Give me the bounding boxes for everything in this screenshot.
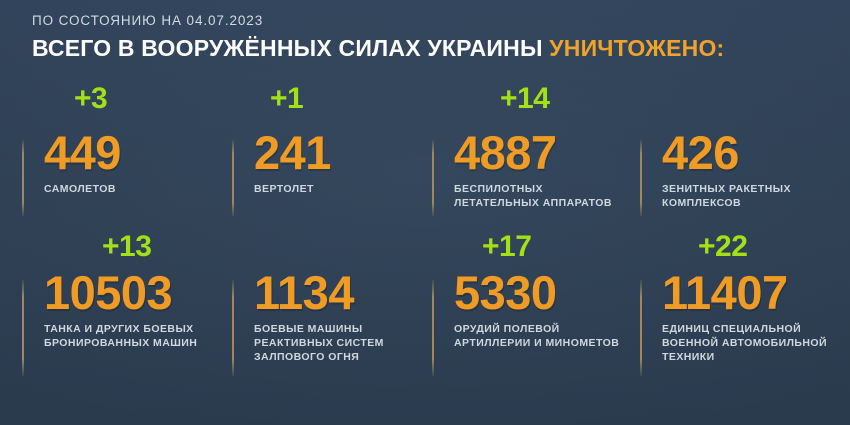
stat-cell-military-vehicles: +22 11407 ЕДИНИЦ СПЕЦИАЛЬНОЙ ВОЕННОЙ АВТ… [640, 232, 850, 382]
stat-cell-sam-systems: 426 ЗЕНИТНЫХ РАКЕТНЫХ КОМПЛЕКСОВ [640, 84, 850, 234]
stat-body: 11407 ЕДИНИЦ СПЕЦИАЛЬНОЙ ВОЕННОЙ АВТОМОБ… [662, 270, 850, 365]
stat-label: САМОЛЕТОВ [44, 183, 234, 197]
stat-body: 10503 ТАНКА И ДРУГИХ БОЕВЫХ БРОНИРОВАННЫ… [44, 270, 234, 351]
page-title-main: ВСЕГО В ВООРУЖЁННЫХ СИЛАХ УКРАИНЫ [32, 35, 549, 61]
stat-cell-mlrs: 1134 БОЕВЫЕ МАШИНЫ РЕАКТИВНЫХ СИСТЕМ ЗАЛ… [232, 232, 442, 382]
cell-divider [22, 280, 24, 376]
infographic-sheet: ПО СОСТОЯНИЮ НА 04.07.2023 ВСЕГО В ВООРУ… [0, 0, 850, 425]
header: ПО СОСТОЯНИЮ НА 04.07.2023 ВСЕГО В ВООРУ… [32, 13, 832, 62]
stat-value: 426 [662, 130, 850, 176]
stat-label: ТАНКА И ДРУГИХ БОЕВЫХ БРОНИРОВАННЫХ МАШИ… [44, 323, 234, 351]
cell-divider [232, 140, 234, 216]
stat-body: 241 ВЕРТОЛЕТ [254, 130, 444, 197]
stat-body: 449 САМОЛЕТОВ [44, 130, 234, 197]
delta-badge: +22 [698, 232, 747, 262]
stat-label: ЗЕНИТНЫХ РАКЕТНЫХ КОМПЛЕКСОВ [662, 183, 850, 211]
cell-divider [432, 140, 434, 216]
stat-value: 5330 [454, 270, 644, 316]
stat-value: 241 [254, 130, 444, 176]
stat-cell-uav: +14 4887 БЕСПИЛОТНЫХ ЛЕТАТЕЛЬНЫХ АППАРАТ… [432, 84, 642, 234]
cell-divider [232, 280, 234, 376]
stat-body: 4887 БЕСПИЛОТНЫХ ЛЕТАТЕЛЬНЫХ АППАРАТОВ [454, 130, 644, 211]
stat-value: 1134 [254, 270, 444, 316]
page-title-accent: УНИЧТОЖЕНО: [549, 35, 724, 61]
delta-badge: +1 [270, 84, 303, 114]
stat-cell-artillery: +17 5330 ОРУДИЙ ПОЛЕВОЙ АРТИЛЛЕРИИ И МИН… [432, 232, 642, 382]
cell-divider [22, 140, 24, 216]
cell-divider [640, 140, 642, 216]
delta-badge: +13 [102, 232, 151, 262]
report-date: ПО СОСТОЯНИЮ НА 04.07.2023 [32, 13, 832, 28]
stats-grid: +3 449 САМОЛЕТОВ +1 241 ВЕРТОЛЕТ +14 488… [0, 84, 850, 394]
stat-value: 10503 [44, 270, 234, 316]
stat-label: ОРУДИЙ ПОЛЕВОЙ АРТИЛЛЕРИИ И МИНОМЕТОВ [454, 323, 644, 351]
stat-label: ВЕРТОЛЕТ [254, 183, 444, 197]
stat-label: ЕДИНИЦ СПЕЦИАЛЬНОЙ ВОЕННОЙ АВТОМОБИЛЬНОЙ… [662, 323, 850, 365]
stat-value: 11407 [662, 270, 850, 316]
stat-cell-helicopters: +1 241 ВЕРТОЛЕТ [232, 84, 442, 234]
page-title: ВСЕГО В ВООРУЖЁННЫХ СИЛАХ УКРАИНЫ УНИЧТО… [32, 35, 832, 62]
stat-body: 1134 БОЕВЫЕ МАШИНЫ РЕАКТИВНЫХ СИСТЕМ ЗАЛ… [254, 270, 444, 365]
delta-badge: +17 [482, 232, 531, 262]
delta-badge: +14 [500, 84, 549, 114]
cell-divider [432, 280, 434, 376]
stat-cell-tanks: +13 10503 ТАНКА И ДРУГИХ БОЕВЫХ БРОНИРОВ… [22, 232, 232, 382]
stat-label: БОЕВЫЕ МАШИНЫ РЕАКТИВНЫХ СИСТЕМ ЗАЛПОВОГ… [254, 323, 444, 365]
cell-divider [640, 280, 642, 376]
stat-value: 4887 [454, 130, 644, 176]
stat-body: 5330 ОРУДИЙ ПОЛЕВОЙ АРТИЛЛЕРИИ И МИНОМЕТ… [454, 270, 644, 351]
delta-badge: +3 [74, 84, 107, 114]
stat-cell-aircraft: +3 449 САМОЛЕТОВ [22, 84, 232, 234]
stat-value: 449 [44, 130, 234, 176]
stat-body: 426 ЗЕНИТНЫХ РАКЕТНЫХ КОМПЛЕКСОВ [662, 130, 850, 211]
stat-label: БЕСПИЛОТНЫХ ЛЕТАТЕЛЬНЫХ АППАРАТОВ [454, 183, 644, 211]
